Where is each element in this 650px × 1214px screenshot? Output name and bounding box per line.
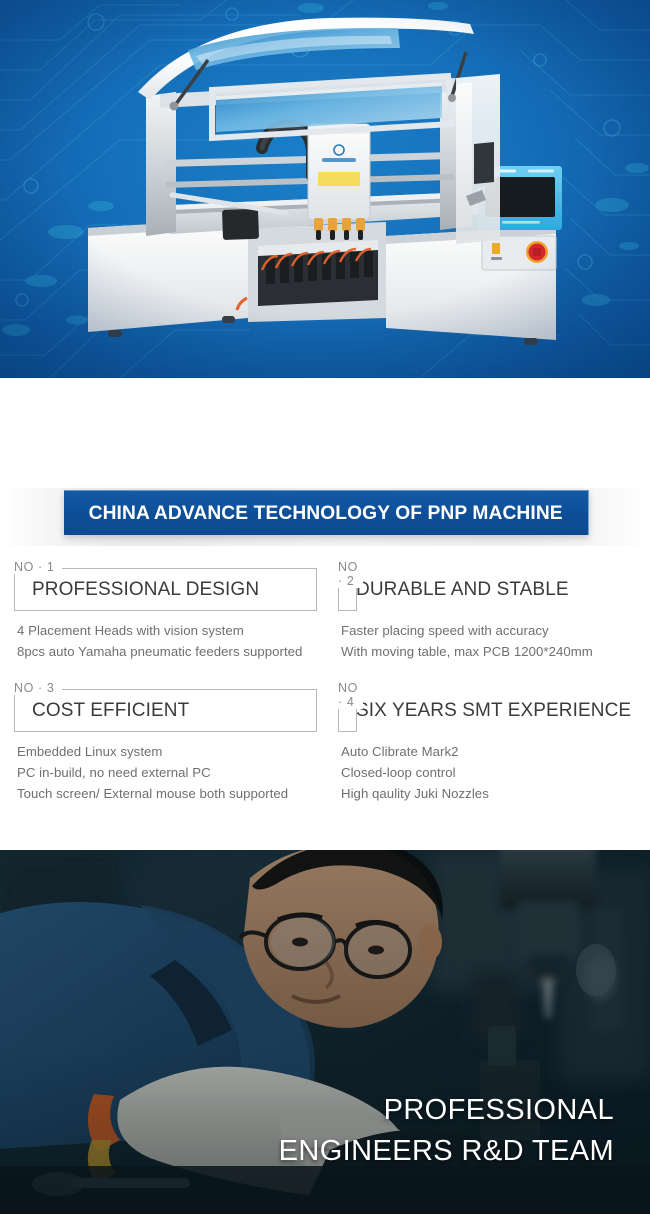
product-detail-page: CHINA ADVANCE TECHNOLOGY OF PNP MACHINE … [0,0,650,1214]
feature-number-3: NO · 3 [14,681,59,695]
features-section: CHINA ADVANCE TECHNOLOGY OF PNP MACHINE … [0,378,650,850]
features-row-1: NO · 1 PROFESSIONAL DESIGN 4 Placement H… [0,560,650,662]
feature-card-4: NO · 4 SIX YEARS SMT EXPERIENCE Auto Cli… [0,681,346,804]
feature-description-2: Faster placing speed with accuracy With … [338,620,341,662]
banner-bar: CHINA ADVANCE TECHNOLOGY OF PNP MACHINE [64,490,589,535]
feature-card-2: NO · 2 DURABLE AND STABLE Faster placing… [0,560,346,662]
caption-line-2: ENGINEERS R&D TEAM [279,1131,614,1172]
feature-number-2: NO · 2 [338,560,363,588]
team-photo-section: PROFESSIONAL ENGINEERS R&D TEAM [0,850,650,1214]
feature-title-4: SIX YEARS SMT EXPERIENCE [356,700,631,722]
hero-vignette [0,0,650,378]
feature-description-4: Auto Clibrate Mark2 Closed-loop control … [338,741,341,804]
caption-line-1: PROFESSIONAL [279,1090,614,1131]
features-grid: NO · 1 PROFESSIONAL DESIGN 4 Placement H… [0,560,650,804]
features-row-2: NO · 3 COST EFFICIENT Embedded Linux sys… [0,681,650,804]
hero-machine-image [0,0,650,378]
feature-title-2: DURABLE AND STABLE [356,579,569,601]
banner-title: CHINA ADVANCE TECHNOLOGY OF PNP MACHINE [89,502,563,525]
team-photo-caption: PROFESSIONAL ENGINEERS R&D TEAM [279,1090,614,1172]
section-banner: CHINA ADVANCE TECHNOLOGY OF PNP MACHINE [0,488,650,546]
feature-number-1: NO · 1 [14,560,59,574]
feature-number-4: NO · 4 [338,681,363,709]
